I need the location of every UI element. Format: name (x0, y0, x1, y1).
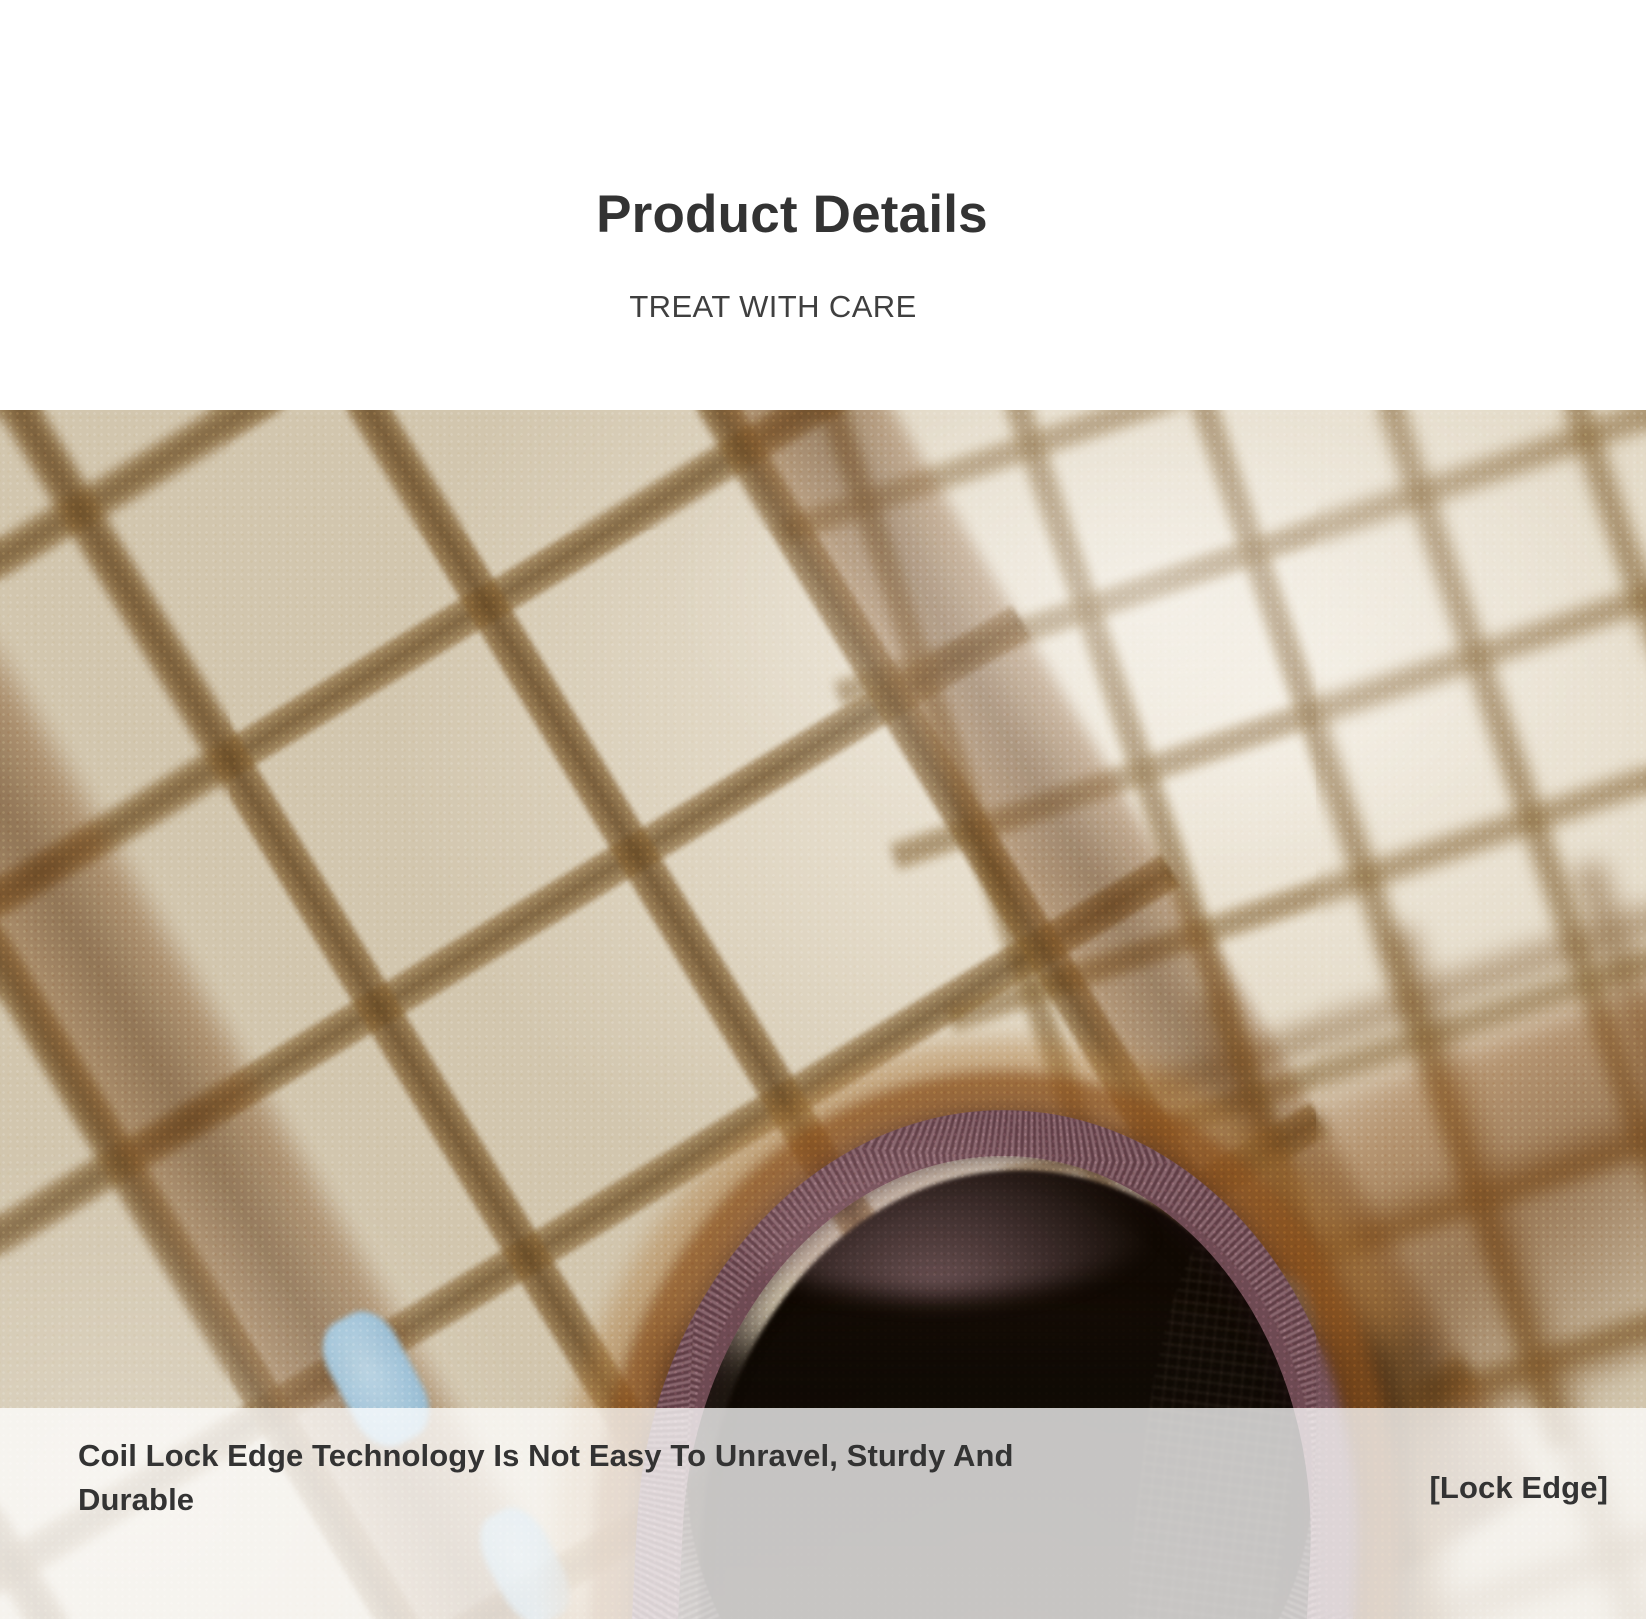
page-title: Product Details (0, 186, 1584, 244)
caption-text: Coil Lock Edge Technology Is Not Easy To… (78, 1434, 1038, 1522)
rug-binding-highlight (700, 1116, 1170, 1296)
page-header: Product Details TREAT WITH CARE (0, 0, 1646, 410)
lock-edge-badge: [Lock Edge] (1429, 1470, 1608, 1506)
product-details-page: Product Details TREAT WITH CARE (0, 0, 1646, 1619)
page-subtitle: TREAT WITH CARE (0, 288, 1546, 325)
